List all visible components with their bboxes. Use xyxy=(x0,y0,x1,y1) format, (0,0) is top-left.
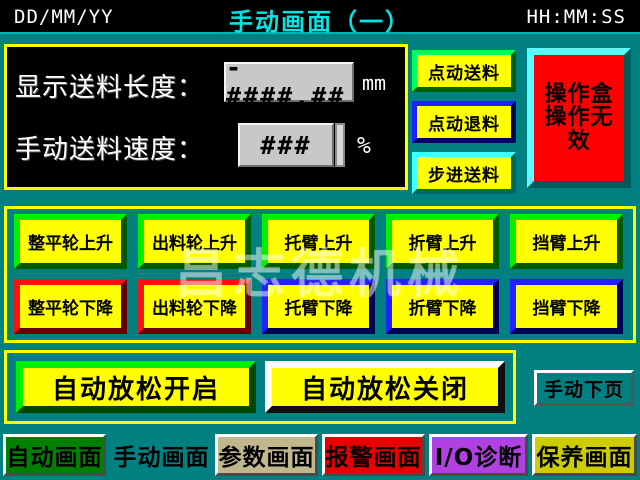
feed-speed-label: 手动送料速度： xyxy=(15,129,204,166)
alarm-line-3: 效 xyxy=(544,130,613,153)
feed-length-row: 显示送料长度： -####.## mm xyxy=(7,63,405,111)
nav-tab-maintenance-screen[interactable]: 保养画面 xyxy=(532,434,637,476)
nav-tab-manual-screen[interactable]: 手动画面 xyxy=(110,434,213,476)
leveling-roller-down-button[interactable]: 整平轮下降 xyxy=(14,279,127,334)
jog-feed-reverse-button[interactable]: 点动退料 xyxy=(412,101,516,143)
feed-length-unit: mm xyxy=(362,71,386,95)
nav-tab-parameter-screen[interactable]: 参数画面 xyxy=(215,434,318,476)
feed-speed-value[interactable]: ### xyxy=(238,123,334,167)
leveling-roller-up-button[interactable]: 整平轮上升 xyxy=(14,214,127,269)
support-arm-down-button[interactable]: 托臂下降 xyxy=(262,279,375,334)
stop-arm-up-button[interactable]: 挡臂上升 xyxy=(510,214,623,269)
bottom-nav-bar: 自动画面 手动画面 参数画面 报警画面 I/O诊断 保养画面 xyxy=(0,430,640,480)
step-feed-button[interactable]: 步进送料 xyxy=(412,152,516,194)
title-bar: DD/MM/YY 手动画面（一） HH:MM:SS xyxy=(0,0,640,34)
auto-relax-panel: 自动放松开启 自动放松关闭 xyxy=(4,350,516,424)
auto-relax-on-button[interactable]: 自动放松开启 xyxy=(16,361,256,413)
folding-arm-down-button[interactable]: 折臂下降 xyxy=(386,279,499,334)
support-arm-up-button[interactable]: 托臂上升 xyxy=(262,214,375,269)
alarm-text: 操作盒 操作无 效 xyxy=(544,83,613,152)
folding-arm-up-button[interactable]: 折臂上升 xyxy=(386,214,499,269)
time-display: HH:MM:SS xyxy=(526,6,626,28)
hmi-screen: DD/MM/YY 手动画面（一） HH:MM:SS 显示送料长度： -####.… xyxy=(0,0,640,480)
nav-tab-io-diagnostics[interactable]: I/O诊断 xyxy=(429,434,528,476)
output-roller-up-button[interactable]: 出料轮上升 xyxy=(138,214,251,269)
output-roller-down-button[interactable]: 出料轮下降 xyxy=(138,279,251,334)
operator-box-disabled-alarm: 操作盒 操作无 效 xyxy=(527,48,631,188)
feed-display-panel: 显示送料长度： -####.## mm 手动送料速度： ### % xyxy=(4,44,408,190)
jog-feed-forward-button[interactable]: 点动送料 xyxy=(412,50,516,92)
feed-length-label: 显示送料长度： xyxy=(15,67,204,104)
manual-next-page-button[interactable]: 手动下页 xyxy=(534,370,634,406)
feed-speed-row: 手动送料速度： ### % xyxy=(7,125,405,173)
auto-relax-off-button[interactable]: 自动放松关闭 xyxy=(265,361,505,413)
nav-tab-alarm-screen[interactable]: 报警画面 xyxy=(322,434,425,476)
alarm-line-1: 操作盒 xyxy=(544,83,613,106)
feed-speed-unit: % xyxy=(357,133,371,159)
feed-speed-caret-icon xyxy=(335,123,345,167)
feed-length-value[interactable]: -####.## xyxy=(224,62,354,102)
alarm-line-2: 操作无 xyxy=(544,106,613,129)
stop-arm-down-button[interactable]: 挡臂下降 xyxy=(510,279,623,334)
axis-control-grid: 整平轮上升 出料轮上升 托臂上升 折臂上升 挡臂上升 整平轮下降 出料轮下降 托… xyxy=(4,206,636,343)
nav-tab-auto-screen[interactable]: 自动画面 xyxy=(3,434,106,476)
